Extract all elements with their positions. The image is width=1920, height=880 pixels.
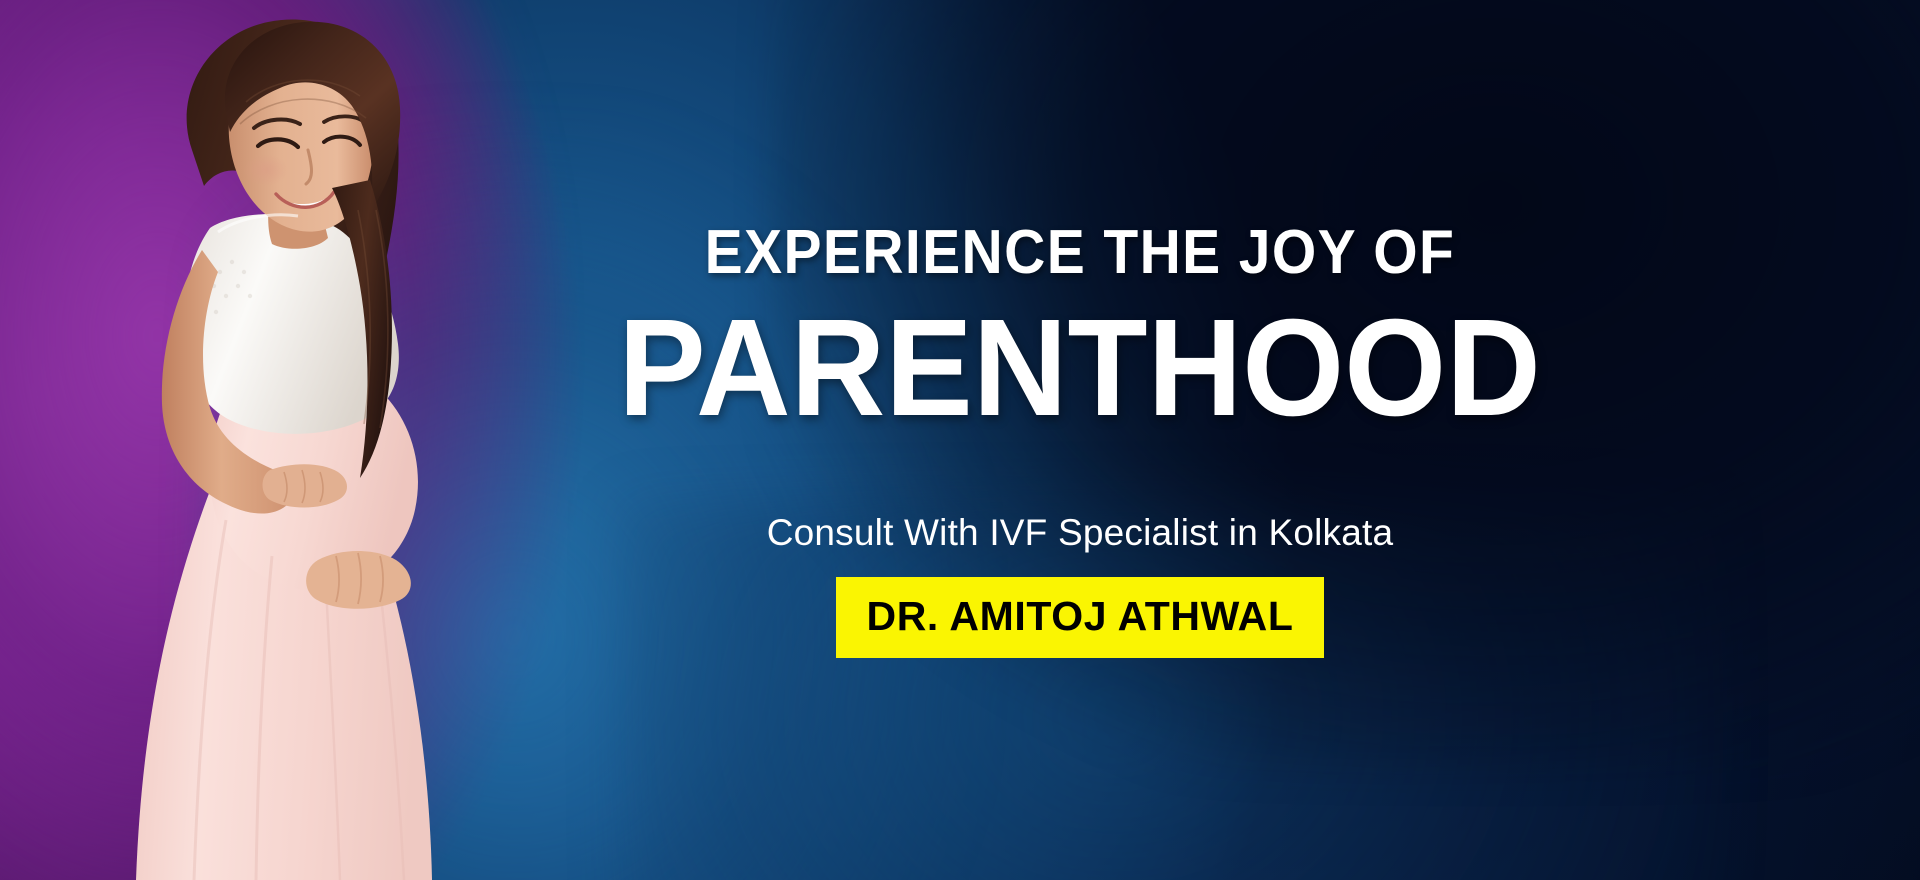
subtitle-text: Consult With IVF Specialist in Kolkata xyxy=(767,511,1394,555)
cheek-blush xyxy=(244,154,288,186)
ivf-hero-banner: EXPERIENCE THE JOY OF PARENTHOOD Consult… xyxy=(0,0,1920,880)
banner-copy: EXPERIENCE THE JOY OF PARENTHOOD Consult… xyxy=(470,0,1690,880)
eyebrow-text: EXPERIENCE THE JOY OF xyxy=(705,222,1456,284)
doctor-name-badge[interactable]: DR. AMITOJ ATHWAL xyxy=(836,577,1323,658)
pregnant-woman-image xyxy=(40,0,470,880)
page-title: PARENTHOOD xyxy=(619,298,1542,439)
